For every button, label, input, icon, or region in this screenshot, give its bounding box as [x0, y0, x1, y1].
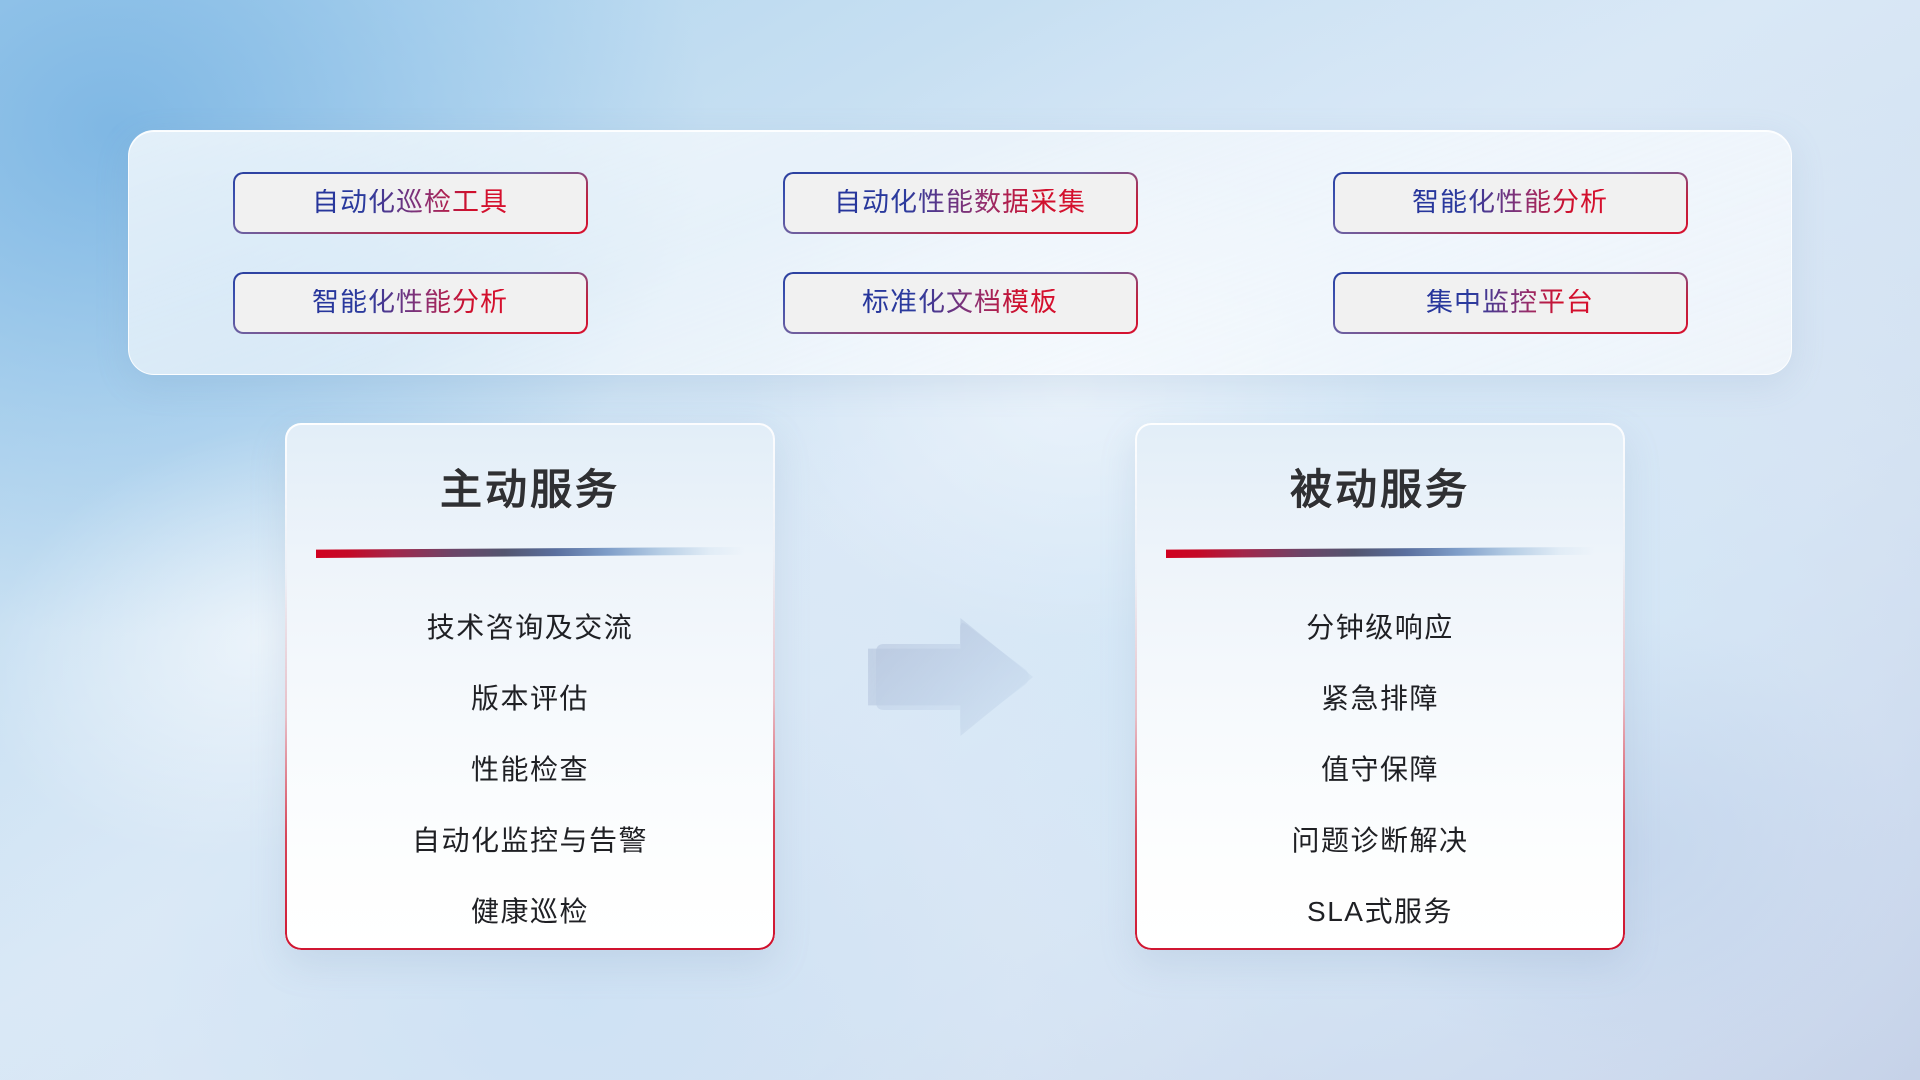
- pill-label: 标准化文档模板: [862, 289, 1058, 316]
- list-item: 分钟级响应: [1135, 592, 1625, 663]
- card-divider-active: [316, 547, 744, 558]
- pill-label: 智能化性能分析: [1412, 189, 1608, 216]
- pill-label: 集中监控平台: [1426, 289, 1594, 316]
- slide-canvas: 自动化巡检工具 自动化性能数据采集 智能化性能分析 智能化性能分析 标准化文档模…: [0, 0, 1920, 1080]
- pill-centralized-monitoring-platform[interactable]: 集中监控平台: [1333, 272, 1688, 334]
- list-item: 紧急排障: [1135, 663, 1625, 734]
- list-item: 版本评估: [285, 663, 775, 734]
- card-title-passive: 被动服务: [1135, 456, 1625, 517]
- pill-intelligent-performance-analysis-2[interactable]: 智能化性能分析: [233, 272, 588, 334]
- list-item: 自动化监控与告警: [285, 805, 775, 876]
- capability-pill-grid: 自动化巡检工具 自动化性能数据采集 智能化性能分析 智能化性能分析 标准化文档模…: [233, 172, 1688, 334]
- card-title-active: 主动服务: [285, 456, 775, 517]
- divider-bar: [316, 547, 744, 558]
- list-item: 值守保障: [1135, 734, 1625, 805]
- pill-intelligent-performance-analysis[interactable]: 智能化性能分析: [1333, 172, 1688, 234]
- passive-service-list: 分钟级响应 紧急排障 值守保障 问题诊断解决 SLA式服务: [1135, 592, 1625, 947]
- list-item: SLA式服务: [1135, 876, 1625, 947]
- list-item: 问题诊断解决: [1135, 805, 1625, 876]
- pill-automation-performance-data-collection[interactable]: 自动化性能数据采集: [783, 172, 1138, 234]
- capabilities-panel: 自动化巡检工具 自动化性能数据采集 智能化性能分析 智能化性能分析 标准化文档模…: [128, 130, 1792, 375]
- pill-label: 自动化巡检工具: [312, 189, 508, 216]
- list-item: 健康巡检: [285, 876, 775, 947]
- pill-label: 智能化性能分析: [312, 289, 508, 316]
- card-divider-passive: [1166, 547, 1594, 558]
- pill-automation-inspection-tool[interactable]: 自动化巡检工具: [233, 172, 588, 234]
- active-service-list: 技术咨询及交流 版本评估 性能检查 自动化监控与告警 健康巡检: [285, 592, 775, 947]
- pill-label: 自动化性能数据采集: [834, 189, 1086, 216]
- arrow-right-icon: [868, 618, 1033, 736]
- list-item: 技术咨询及交流: [285, 592, 775, 663]
- card-passive-service: 被动服务 分钟级响应 紧急排障 值守保障 问题诊断解决 SLA式服务: [1135, 423, 1625, 950]
- pill-standardized-document-template[interactable]: 标准化文档模板: [783, 272, 1138, 334]
- card-active-service: 主动服务 技术咨询及交流 版本评估 性能检查 自动化监控与告警 健康巡检: [285, 423, 775, 950]
- divider-bar: [1166, 547, 1594, 558]
- list-item: 性能检查: [285, 734, 775, 805]
